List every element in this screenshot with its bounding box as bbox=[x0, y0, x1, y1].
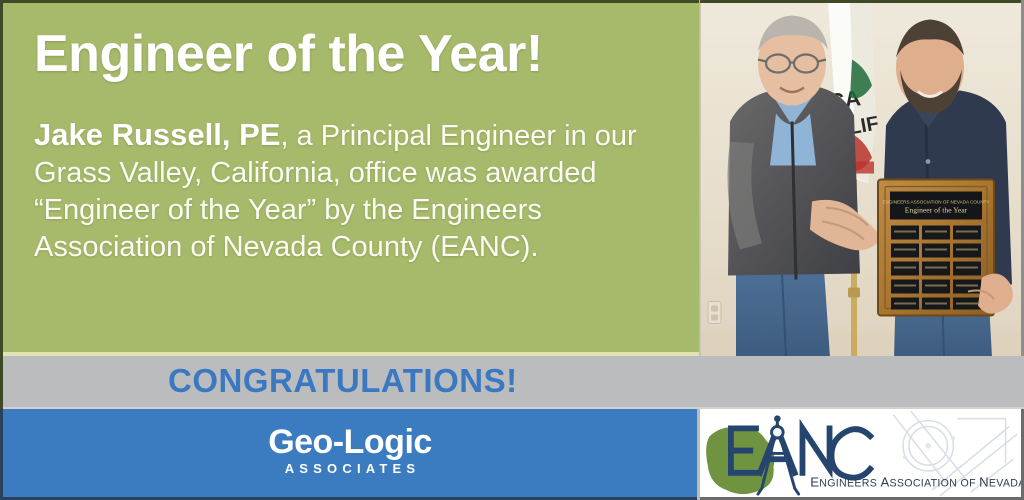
svg-text:ENGINEERS ASSOCIATION OF NEVAD: ENGINEERS ASSOCIATION OF NEVADA COUNTY bbox=[882, 200, 989, 205]
svg-text:Engineer of the Year: Engineer of the Year bbox=[905, 206, 968, 215]
geo-logic-wordmark: Geo-Logic bbox=[3, 425, 697, 459]
svg-text:ENGINEERS ASSOCIATI: ENGINEERS ASSOCIATION OF NEVADA COUNTY bbox=[810, 474, 1021, 489]
geo-logic-logo: Geo-Logic ASSOCIATES bbox=[3, 425, 697, 478]
page-title: Engineer of the Year! bbox=[34, 27, 543, 82]
honoree-name: Jake Russell, PE bbox=[34, 117, 280, 152]
engineer-of-the-year-banner: Engineer of the Year! Jake Russell, PE, … bbox=[0, 0, 1024, 500]
award-presentation-photo: CA LIF bbox=[700, 0, 1024, 356]
eanc-logo-panel: ENGINEERS ASSOCIATION OF NEVADA COUNTY bbox=[700, 409, 1024, 500]
congratulations-text: CONGRATULATIONS! bbox=[168, 362, 518, 400]
congratulations-band: CONGRATULATIONS! bbox=[0, 356, 1024, 409]
announcement-text: Jake Russell, PE, a Principal Engineer i… bbox=[34, 116, 674, 266]
green-content-panel: Engineer of the Year! Jake Russell, PE, … bbox=[0, 0, 699, 356]
footer-bar: Geo-Logic ASSOCIATES bbox=[0, 409, 1024, 500]
geo-logic-subtitle: ASSOCIATES bbox=[3, 460, 697, 478]
company-logo-panel: Geo-Logic ASSOCIATES bbox=[0, 409, 697, 500]
